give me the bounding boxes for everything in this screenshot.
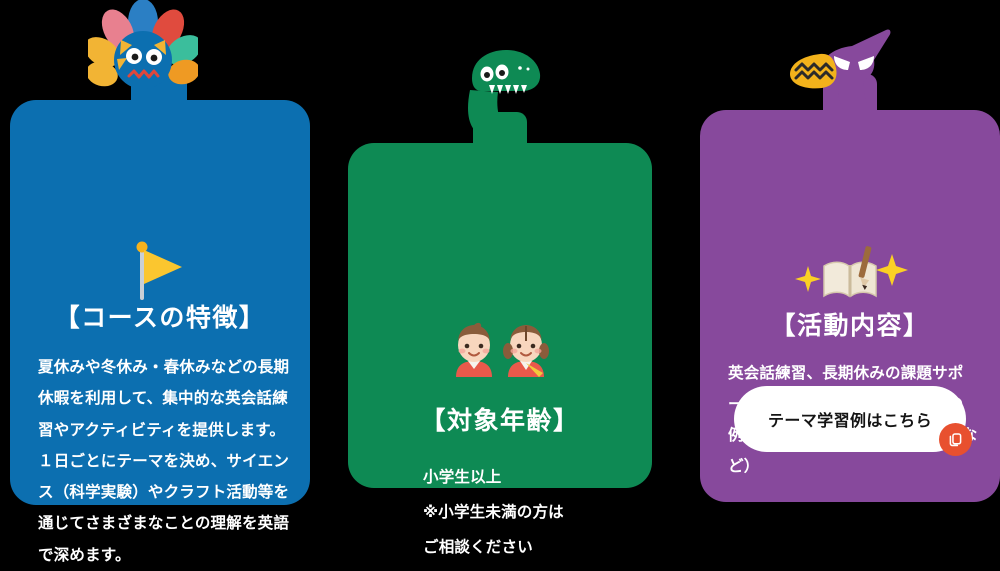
flag-icon [10,240,310,302]
theme-study-examples-button[interactable]: テーマ学習例はこちら [734,386,966,452]
card-body-line: 小学生以上 [423,461,653,496]
card-course-features: 【コースの特徴】 夏休みや冬休み・春休みなどの長期休暇を利用して、集中的な英会話… [10,100,310,505]
card-target-age: 【対象年齢】 小学生以上 ※小学生未満の方は ご相談ください [348,143,652,488]
card-body-course-features: 夏休みや冬休み・春休みなどの長期休暇を利用して、集中的な英会話練習やアクティビテ… [38,352,300,571]
open-book-with-pencil-and-sparkles-icon [700,244,1000,306]
card-body-line: ご相談ください [423,531,653,566]
two-children-icon [348,321,652,379]
green-dinosaur-mascot [442,44,562,132]
external-link-icon[interactable] [939,423,972,456]
theme-study-examples-label: テーマ学習例はこちら [768,407,932,431]
card-body-line: ※小学生未満の方は [423,496,653,531]
card-title-target-age: 【対象年齢】 [348,401,652,437]
card-row: 【コースの特徴】 夏休みや冬休み・春休みなどの長期休暇を利用して、集中的な英会話… [0,0,1000,510]
card-body-target-age: 小学生以上 ※小学生未満の方は ご相談ください [423,461,653,566]
card-title-course-features: 【コースの特徴】 [10,298,310,334]
card-title-activity-content: 【活動内容】 [700,306,1000,342]
purple-pterodactyl-mascot [778,26,898,118]
blue-frill-monster-mascot [88,0,198,100]
